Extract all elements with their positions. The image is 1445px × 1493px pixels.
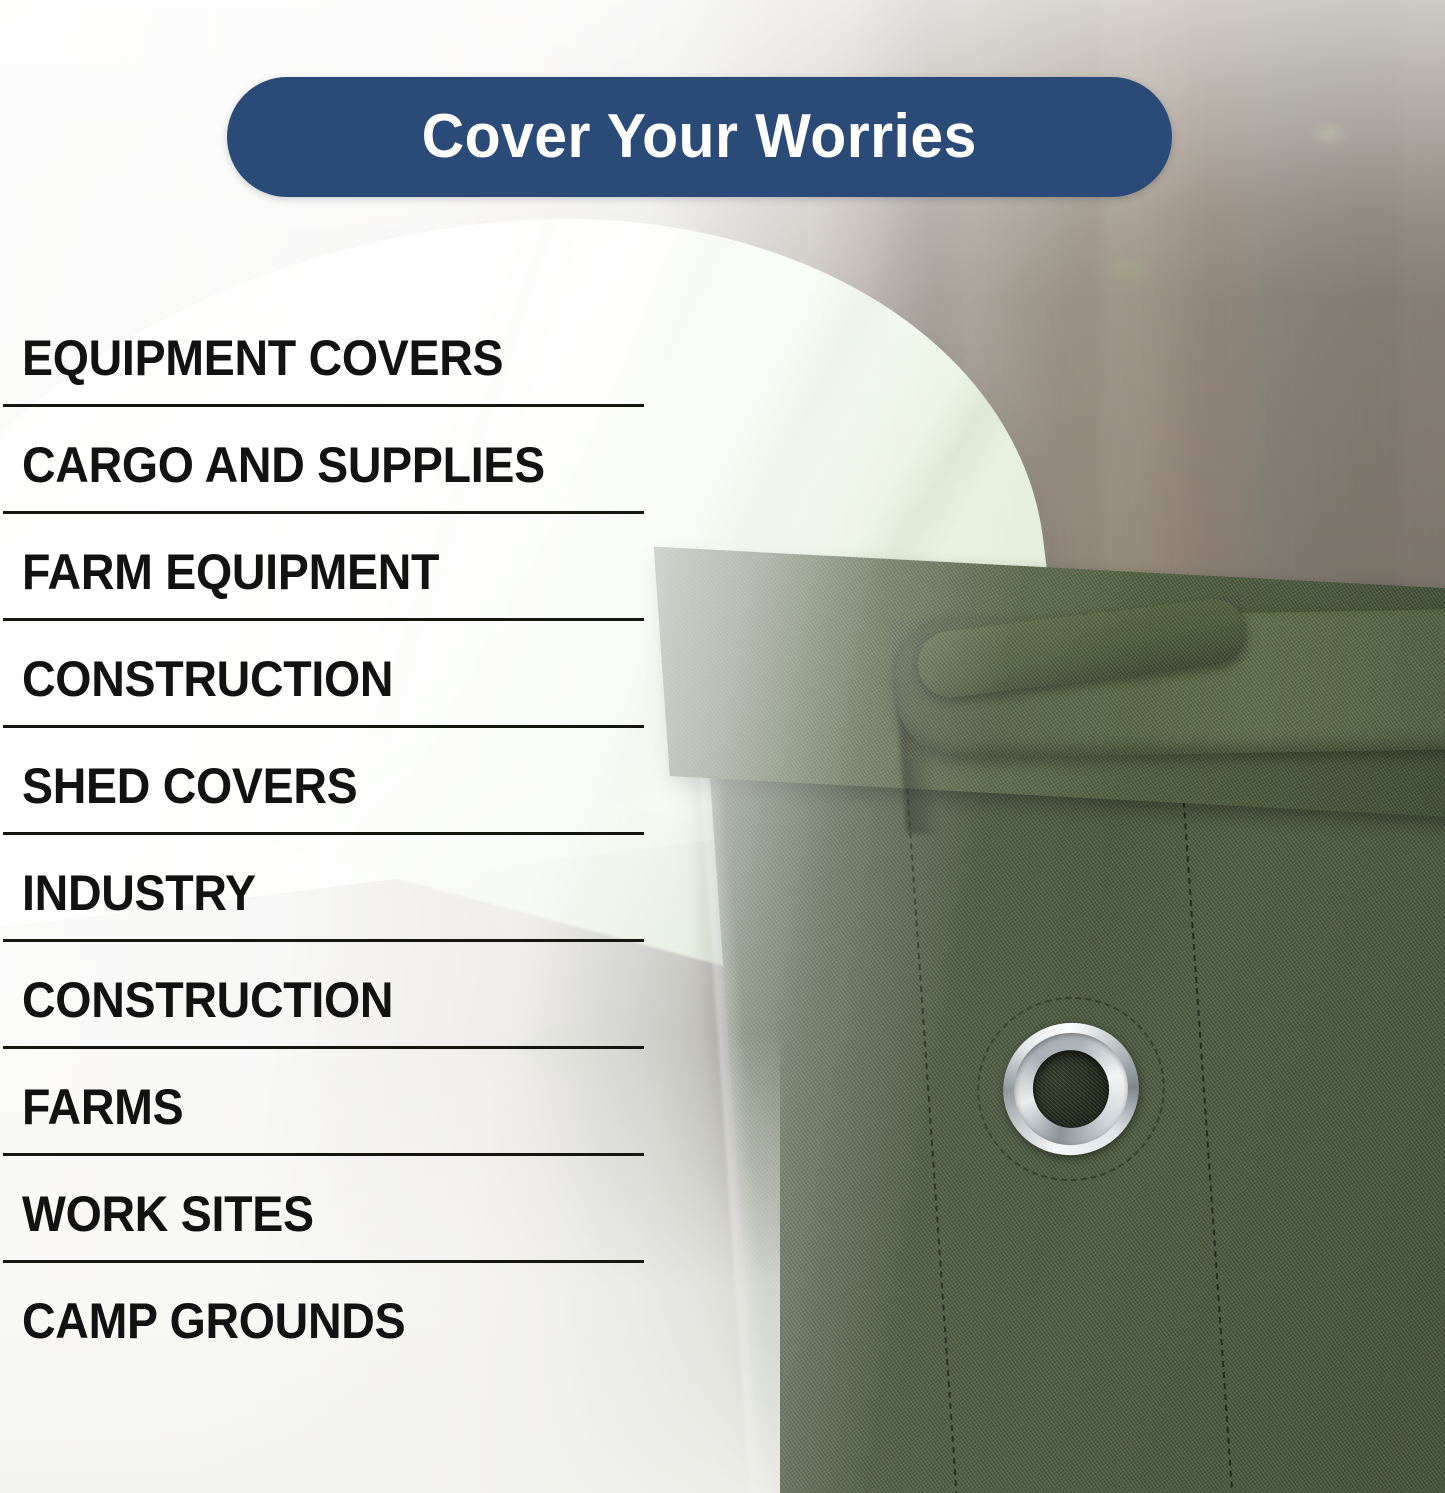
- list-item: CONSTRUCTION: [0, 942, 648, 1049]
- list-item-label: CONSTRUCTION: [22, 654, 393, 704]
- banner-title: Cover Your Worries: [422, 106, 977, 168]
- list-item: CONSTRUCTION: [0, 621, 648, 728]
- list-item: INDUSTRY: [0, 835, 648, 942]
- list-item-label: INDUSTRY: [22, 868, 256, 918]
- list-item: FARMS: [0, 1049, 648, 1156]
- list-item: CAMP GROUNDS: [0, 1263, 648, 1370]
- list-item: FARM EQUIPMENT: [0, 514, 648, 621]
- use-case-list: EQUIPMENT COVERS CARGO AND SUPPLIES FARM…: [0, 300, 648, 1370]
- list-item-label: FARMS: [22, 1082, 183, 1132]
- list-item-label: CARGO AND SUPPLIES: [22, 440, 545, 490]
- product-marketing-image: Cover Your Worries EQUIPMENT COVERS CARG…: [0, 0, 1445, 1493]
- list-item: CARGO AND SUPPLIES: [0, 407, 648, 514]
- list-item: EQUIPMENT COVERS: [0, 300, 648, 407]
- list-item-label: FARM EQUIPMENT: [22, 547, 439, 597]
- list-item-label: WORK SITES: [22, 1189, 314, 1239]
- list-item-label: EQUIPMENT COVERS: [22, 333, 503, 383]
- list-item-label: CONSTRUCTION: [22, 975, 393, 1025]
- list-item: SHED COVERS: [0, 728, 648, 835]
- list-item-label: SHED COVERS: [22, 761, 357, 811]
- headline-banner: Cover Your Worries: [227, 77, 1172, 197]
- list-item: WORK SITES: [0, 1156, 648, 1263]
- list-item-label: CAMP GROUNDS: [22, 1296, 405, 1346]
